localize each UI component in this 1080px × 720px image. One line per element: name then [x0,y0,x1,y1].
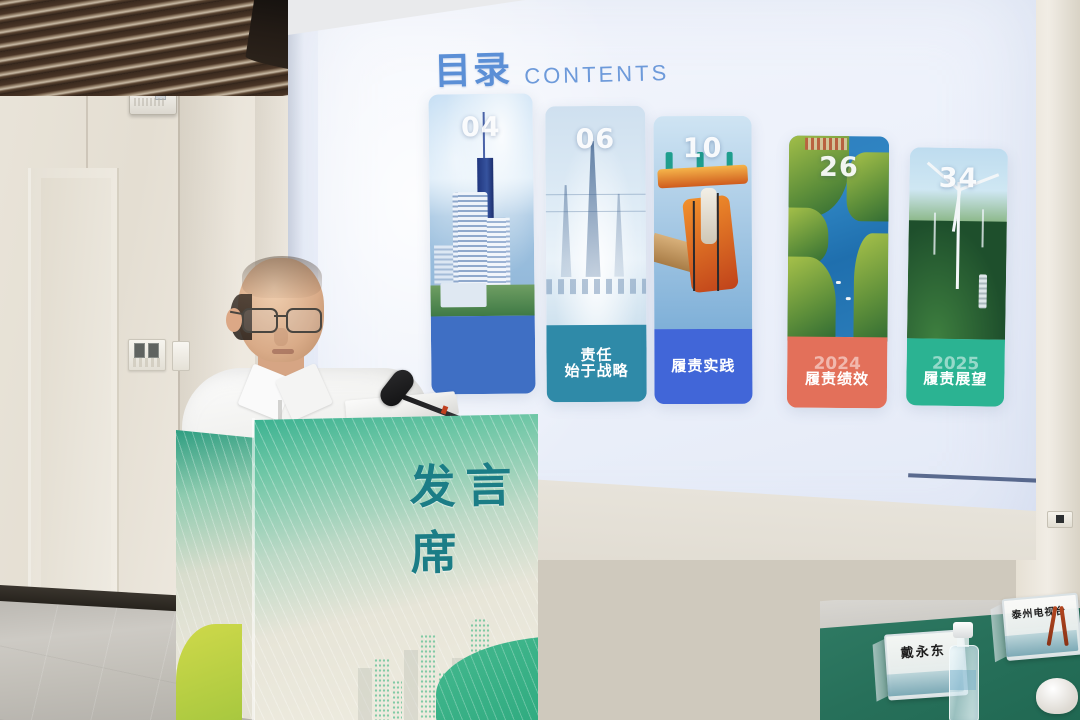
photo-scene: 目录 CONTENTS 04 [0,0,1080,720]
card-number: 34 [909,163,1007,196]
water-bottle [948,622,978,720]
card-number: 04 [429,111,533,143]
contents-card[interactable]: 26 2024 履责绩效 [787,136,889,409]
door[interactable] [28,168,119,598]
contents-card[interactable]: 10 履责实践 [653,116,752,404]
light-switch-panel[interactable] [128,339,166,371]
card-number: 26 [789,152,889,184]
podium: 发言席 [176,414,538,720]
teacup [1036,678,1078,714]
card-label: 履责绩效 [805,372,869,388]
contents-card[interactable]: 06 责任 始于战略 [545,106,647,403]
card-label: 履责展望 [923,372,987,389]
podium-front-panel: 发言席 [254,414,538,720]
lanyard [1048,606,1074,646]
card-number: 06 [545,123,645,155]
contents-card[interactable]: 34 2025 履责展望 [906,147,1008,407]
contents-card[interactable]: 04 [428,93,535,394]
card-label-line2: 始于战略 [565,363,629,379]
eyeglasses-icon [242,308,324,330]
podium-label: 发言席 [409,449,539,583]
wall-outlet[interactable] [1047,511,1073,528]
card-number: 10 [654,133,752,164]
card-label: 履责实践 [671,359,735,375]
